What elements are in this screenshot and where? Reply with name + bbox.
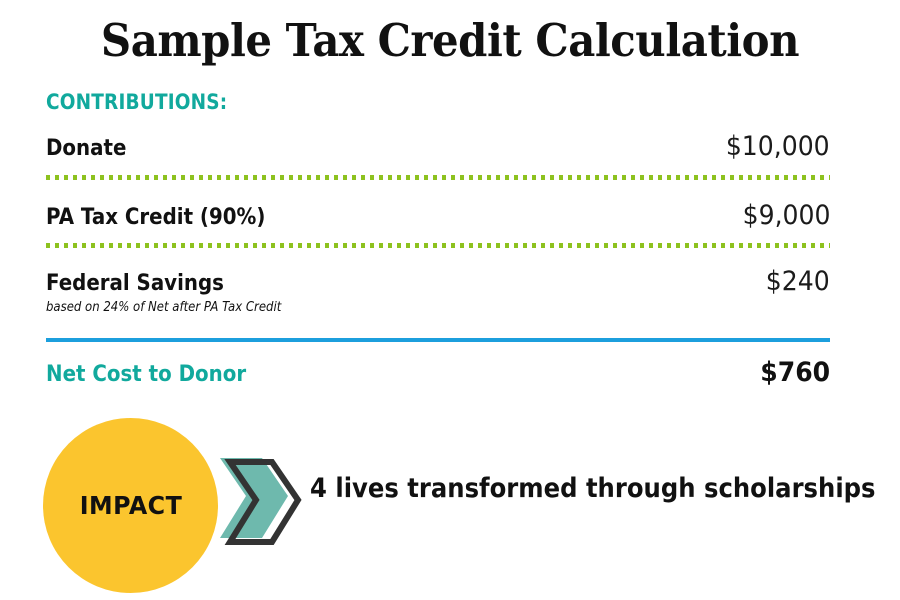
row-label: Federal Savings: [46, 269, 281, 299]
table-row: PA Tax Credit (90%) $9,000: [46, 200, 830, 233]
row-label: PA Tax Credit (90%): [46, 203, 265, 233]
table-row: Federal Savings based on 24% of Net afte…: [46, 266, 830, 316]
total-label: Net Cost to Donor: [46, 360, 246, 390]
table-row: Donate $10,000: [46, 131, 830, 164]
impact-statement: 4 lives transformed through scholarships: [310, 472, 876, 506]
row-label-group: PA Tax Credit (90%): [46, 203, 290, 233]
total-amount: $760: [760, 357, 830, 389]
row-amount: $240: [766, 266, 830, 298]
table-row-total: Net Cost to Donor $760: [46, 357, 830, 390]
row-amount: $9,000: [742, 200, 830, 232]
page-title: Sample Tax Credit Calculation: [32, 14, 869, 68]
row-label: Donate: [46, 134, 126, 164]
row-sublabel: based on 24% of Net after PA Tax Credit: [46, 299, 281, 316]
row-label-group: Federal Savings based on 24% of Net afte…: [46, 269, 307, 316]
row-label-group: Donate: [46, 134, 135, 164]
impact-badge: IMPACT: [43, 418, 218, 593]
double-chevron-arrow-right-icon: [218, 452, 314, 548]
calculation-table: Donate $10,000 PA Tax Credit (90%) $9,00…: [46, 131, 830, 390]
impact-section: IMPACT 4 lives transformed through schol…: [0, 412, 900, 600]
row-amount: $10,000: [726, 131, 830, 163]
contributions-section-heading: CONTRIBUTIONS:: [46, 89, 227, 115]
impact-badge-label: IMPACT: [79, 491, 182, 520]
tax-credit-infographic: Sample Tax Credit Calculation CONTRIBUTI…: [0, 0, 900, 600]
row-label-group: Net Cost to Donor: [46, 360, 268, 390]
